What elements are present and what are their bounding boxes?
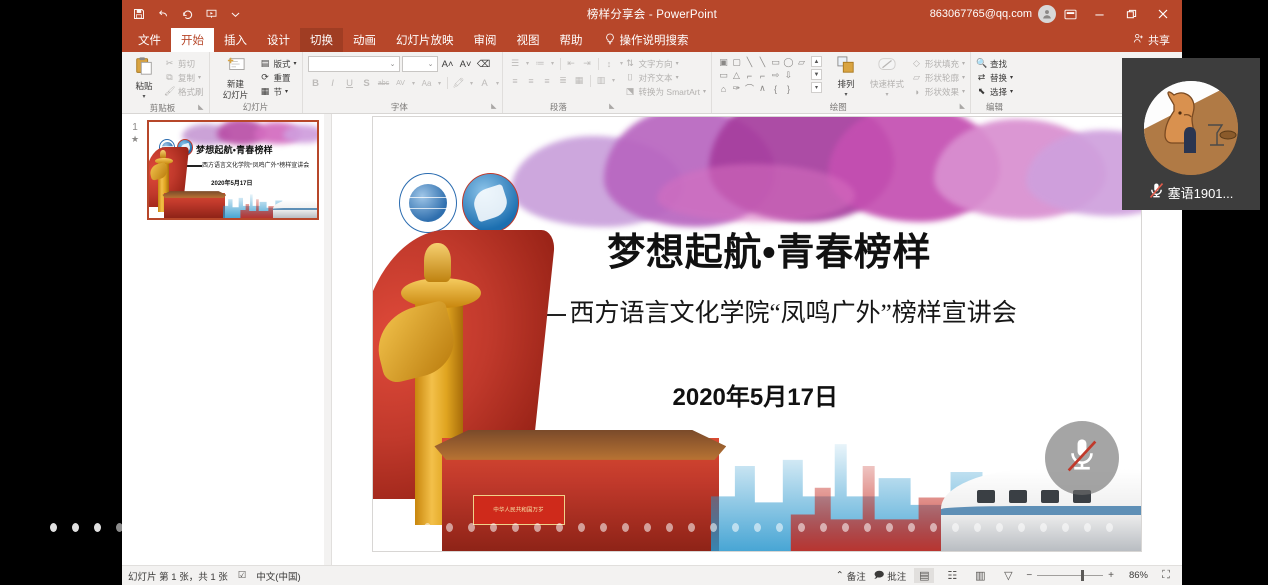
scissors-icon: ✂ [164,58,175,69]
shape-right-brace-icon[interactable]: } [782,82,795,95]
undo-icon[interactable] [152,3,174,25]
redo-icon[interactable] [176,3,198,25]
zoom-out-button[interactable]: − [1026,570,1032,581]
para-divider-1 [560,58,561,70]
share-button[interactable]: 共享 [1133,28,1182,52]
text-direction-label: 文字方向 [639,58,673,70]
font-divider [447,77,448,89]
change-case-label: Aa [422,79,432,88]
layout-dropdown-icon[interactable]: ▾ [294,60,297,67]
char-spacing-label: AV [396,80,405,87]
font-color-label: A [481,78,487,89]
font-color-button[interactable]: A [477,75,493,91]
participant-name: 塞语1901... [1168,183,1234,202]
quick-styles-dropdown-icon[interactable]: ▾ [885,90,888,100]
select-button[interactable]: ⬉ 选择 ▾ [976,85,1013,98]
restore-button[interactable] [1116,1,1146,27]
normal-view-button[interactable]: ▤ [914,568,934,583]
brush-icon: 🖌 [164,86,175,97]
paste-icon [134,56,154,80]
tell-me-search[interactable]: 操作说明搜索 [593,28,689,52]
ribbon-group-editing: 🔍 查找 ⇄ 替换 ▾ ⬉ 选择 ▾ [970,52,1018,113]
watercolor-header [511,116,1142,239]
thumbnail-scrollbar[interactable] [324,114,331,565]
new-slide-button[interactable]: 新建 幻灯片 [215,54,257,100]
shape-arc-icon[interactable]: ⌒ [743,82,756,95]
shapes-gallery[interactable]: ▣ ▢ ╲ ╲ ▭ ◯ ▱ ▭ △ ⌐ ⌐ ⇨ ⇩ ⌂ [717,54,808,95]
shape-effects-label: 形状效果 [925,86,959,98]
font-title-text: 字体 [391,102,408,112]
find-button[interactable]: 🔍 查找 [976,57,1013,70]
new-slide-icon [226,56,246,78]
university-logo [399,173,457,233]
mic-mute-overlay-button[interactable] [1045,421,1119,495]
strikethrough-label: abc [378,80,389,87]
thumbnail-preview[interactable]: 梦想起航•青春榜样 西方语言文化学院“凤鸣广外”榜样宣讲会 2020年5月17日 [147,120,319,220]
font-dialog-launcher[interactable]: ◣ [491,101,496,113]
replace-dropdown-icon[interactable]: ▾ [1010,74,1013,81]
group-title-drawing: ◣ 绘图 [717,101,965,113]
copy-icon: ⧉ [164,72,175,83]
ribbon: 粘贴 ▾ ✂ 剪切 ⧉ 复制 ▾ [122,52,1182,114]
zoom-track[interactable] [1037,575,1103,576]
text-shadow-button[interactable]: S [359,75,375,91]
smartart-icon: ⬔ [625,86,636,97]
slide-logos [399,173,519,233]
zoom-level-label[interactable]: 86% [1122,570,1148,581]
align-text-button[interactable]: ⌷ 对齐文本 ▾ [625,71,706,84]
screen: 榜样分享会 - PowerPoint 863067765@qq.com [0,0,1268,585]
shape-blank-icon[interactable] [795,69,808,82]
select-dropdown-icon[interactable]: ▾ [1010,88,1013,95]
justify-button[interactable]: ≣ [556,73,571,88]
copy-label: 复制 [178,72,195,84]
bold-button[interactable]: B [308,75,324,91]
shape-textbox2-icon[interactable]: ▢ [730,56,743,69]
shape-effects-icon: ◑ [911,87,922,97]
powerpoint-window: 榜样分享会 - PowerPoint 863067765@qq.com [122,0,1182,585]
format-painter-label: 格式刷 [178,86,204,98]
language-label[interactable]: 中文(中国) [256,569,300,583]
change-case-dropdown-icon[interactable]: ▾ [436,75,444,91]
shape-effects-button[interactable]: ◑ 形状效果 ▾ [911,85,965,98]
slide-count-label: 幻灯片 第 1 张，共 1 张 [128,569,228,583]
ribbon-group-drawing: ▣ ▢ ╲ ╲ ▭ ◯ ▱ ▭ △ ⌐ ⌐ ⇨ ⇩ ⌂ [711,52,970,113]
align-text-label: 对齐文本 [639,72,673,84]
quick-styles-button[interactable]: 快速样式 ▾ [866,54,908,100]
new-slide-label-1: 新建 [227,79,244,89]
slide-date[interactable]: 2020年5月17日 [673,377,838,412]
thumb-title: 梦想起航•青春榜样 [196,143,273,156]
customize-qat-icon[interactable] [224,3,246,25]
shapes-scroll-up-icon[interactable]: ▲ [811,56,822,67]
shape-oval-icon[interactable]: ◯ [782,56,795,69]
shape-fill-icon: ◇ [911,58,922,69]
thumb-train [273,200,317,218]
group-title-slides: 幻灯片 [215,101,297,113]
close-button[interactable] [1148,1,1178,27]
align-left-button[interactable]: ≡ [508,73,523,88]
copy-dropdown-icon[interactable]: ▾ [198,74,201,81]
decrease-indent-button[interactable]: ⇤ [564,56,579,71]
paragraph-title-text: 段落 [550,102,567,112]
font-color-dropdown-icon[interactable]: ▾ [494,75,502,91]
train-window [1041,490,1059,503]
shape-right-arrow-icon[interactable]: ⇨ [769,69,782,82]
bold-label: B [312,78,319,89]
drawing-title-text: 绘图 [830,102,847,112]
comments-button[interactable]: 🗩 批注 [874,568,907,584]
italic-label: I [331,78,334,89]
notes-icon: ⌃ [836,570,844,581]
arrange-dropdown-icon[interactable]: ▾ [844,90,847,100]
change-case-button[interactable]: Aa [419,75,435,91]
shape-rounded-rect-icon[interactable]: ▱ [795,56,808,69]
zoom-thumb[interactable] [1081,570,1084,581]
notes-label: 备注 [847,569,866,583]
desktop-left-backdrop [0,0,122,585]
find-label: 查找 [990,58,1007,70]
section-icon: ▦ [260,86,271,97]
reset-button[interactable]: ⟳ 重置 [260,71,297,84]
quick-styles-icon [877,56,897,78]
bullets-button[interactable]: ☰ [508,56,523,71]
zoom-in-button[interactable]: + [1108,570,1114,581]
shape-outline-label: 形状轮廓 [925,72,959,84]
tab-slideshow[interactable]: 幻灯片放映 [386,28,464,52]
numbering-dropdown-icon[interactable]: ▾ [549,56,557,71]
shape-effects-dropdown-icon[interactable]: ▾ [962,88,965,95]
account-email[interactable]: 863067765@qq.com [930,8,1032,20]
shape-pen-icon[interactable]: ✑ [730,82,743,95]
avatar [1144,81,1238,175]
shapes-scroll-down-icon[interactable]: ▼ [811,69,822,80]
text-direction-icon: ⇅ [625,58,636,69]
thumb-date: 2020年5月17日 [211,178,252,187]
paste-button[interactable]: 粘贴 ▾ [127,54,161,102]
shape-outline-icon: ▱ [911,72,922,83]
columns-dropdown-icon[interactable]: ▾ [610,73,618,88]
section-label: 节 [274,86,283,98]
tab-file[interactable]: 文件 [128,28,171,52]
section-dropdown-icon[interactable]: ▾ [285,88,288,95]
group-title-font: ◣ 字体 [308,101,497,113]
section-button[interactable]: ▦ 节 ▾ [260,85,297,98]
thumbnail-item-1[interactable]: 1 ★ [122,120,331,220]
paragraph-dialog-launcher[interactable]: ◣ [609,101,614,113]
convert-smartart-button[interactable]: ⬔ 转换为 SmartArt ▾ [625,85,706,98]
clipboard-title-text: 剪贴板 [150,103,176,113]
group-title-clipboard: ◣ 剪贴板 [127,102,204,114]
shape-left-brace-icon[interactable]: { [769,82,782,95]
shape-square-icon[interactable]: ▭ [717,69,730,82]
thumb-subtitle: 西方语言文化学院“凤鸣广外”榜样宣讲会 [186,160,309,169]
search-icon: 🔍 [976,58,987,69]
shape-outline-dropdown-icon[interactable]: ▾ [962,74,965,81]
tab-animations[interactable]: 动画 [343,28,386,52]
thumb-pillar-top [160,150,166,159]
comments-label: 批注 [887,569,906,583]
shapes-more-icon[interactable]: ▾ [811,82,822,93]
new-slide-label-2: 幻灯片 [223,90,249,100]
arrange-label: 排列 [837,79,854,89]
shadow-label: S [363,78,369,89]
columns-button[interactable]: ▥ [594,73,609,88]
star-icon: ★ [131,134,139,145]
share-person-icon [1133,33,1144,47]
align-right-button[interactable]: ≡ [540,73,555,88]
format-painter-button[interactable]: 🖌 格式刷 [164,85,204,98]
train-stripe [941,506,1141,514]
tiananmen-roof [434,430,726,460]
clipboard-dialog-launcher[interactable]: ◣ [198,102,203,114]
align-text-dropdown-icon[interactable]: ▾ [676,74,679,81]
train-window [1009,490,1027,503]
bullets-dropdown-icon[interactable]: ▾ [524,56,532,71]
tab-transitions[interactable]: 切换 [300,28,343,52]
layout-icon: ▤ [260,58,271,69]
font-size-chevron-down-icon[interactable]: ⌄ [428,60,434,68]
shape-rectangle-icon[interactable]: ▭ [769,56,782,69]
shape-flow-icon[interactable]: ⌂ [717,82,730,95]
mic-muted-icon [1065,436,1099,481]
thumb-gate-roof [162,191,226,198]
align-center-button[interactable]: ≡ [524,73,539,88]
arrange-button[interactable]: 排列 ▾ [829,54,863,100]
slide-subtitle[interactable]: 西方语言文化学院“凤鸣广外”榜样宣讲会 [504,293,1017,329]
tab-design[interactable]: 设计 [257,28,300,52]
gate-banner: 中华人民共和国万岁 [473,495,565,525]
avatar[interactable] [1038,5,1056,23]
thumbnail-number: 1 [132,122,138,134]
copy-button[interactable]: ⧉ 复制 ▾ [164,71,204,84]
train-window [977,490,995,503]
huabiao-top [424,243,452,282]
title-bar: 榜样分享会 - PowerPoint 863067765@qq.com [122,0,1182,28]
shape-triangle-icon[interactable]: △ [730,69,743,82]
minimize-button[interactable] [1084,1,1114,27]
fit-to-window-button[interactable]: ⛶ [1156,568,1176,583]
ribbon-group-paragraph: ☰ ▾ ≔ ▾ ⇤ ⇥ ↕ ▾ ≡ ≡ ≡ [502,52,620,113]
group-title-editing: 编辑 [976,101,1013,113]
faculty-logo [462,173,520,233]
tab-help[interactable]: 帮助 [550,28,593,52]
select-label: 选择 [990,86,1007,98]
align-text-icon: ⌷ [625,72,636,83]
ribbon-tabs: 文件 开始 插入 设计 切换 动画 幻灯片放映 审阅 视图 帮助 操作说明搜索 … [122,28,1182,52]
arrange-icon [837,56,855,78]
shape-fill-label: 形状填充 [925,58,959,70]
highlight-dropdown-icon[interactable]: ▾ [468,75,476,91]
shape-elbow-icon[interactable]: ⌐ [743,69,756,82]
cursor-icon: ⬉ [976,86,987,97]
text-highlight-button[interactable]: 🖍 [451,75,467,91]
para-divider-2 [598,58,599,70]
shape-connector-icon[interactable]: ⌐ [756,69,769,82]
italic-button[interactable]: I [325,75,341,91]
slideshow-view-button[interactable]: ▽ [998,568,1018,583]
tab-insert[interactable]: 插入 [214,28,257,52]
replace-icon: ⇄ [976,72,987,83]
reset-icon: ⟳ [260,72,271,83]
shape-outline-button[interactable]: ▱ 形状轮廓 ▾ [911,71,965,84]
shape-fill-button[interactable]: ◇ 形状填充 ▾ [911,57,965,70]
paste-dropdown-icon[interactable]: ▾ [142,92,145,102]
character-spacing-dropdown-icon[interactable]: ▾ [410,75,418,91]
zoom-slider[interactable]: − + [1026,570,1114,581]
ribbon-display-options-icon[interactable] [1058,1,1082,27]
underline-label: U [346,78,353,89]
slide-subtitle-text: 西方语言文化学院“凤鸣广外”榜样宣讲会 [570,300,1017,327]
shape-down-arrow-icon[interactable]: ⇩ [782,69,795,82]
video-participant-tile[interactable]: 塞语1901... [1122,58,1260,210]
shape-textbox-icon[interactable]: ▣ [717,56,730,69]
ribbon-group-clipboard: 粘贴 ▾ ✂ 剪切 ⧉ 复制 ▾ [122,52,209,113]
para-divider-3 [590,75,591,87]
ribbon-group-slides: 新建 幻灯片 ▤ 版式 ▾ ⟳ 重置 [209,52,302,113]
distribute-button[interactable]: ▦ [572,73,587,88]
shape-curve-icon[interactable]: ∧ [756,82,769,95]
notes-button[interactable]: ⌃ 备注 [836,569,866,583]
shapes-gallery-scroll[interactable]: ▲ ▼ ▾ [811,54,822,93]
underline-button[interactable]: U [342,75,358,91]
highlighter-icon: 🖍 [453,78,465,89]
paste-label: 粘贴 [135,81,152,91]
layout-button[interactable]: ▤ 版式 ▾ [260,57,297,70]
accessibility-icon[interactable]: ☑ [238,570,247,581]
tab-home[interactable]: 开始 [171,28,214,52]
quick-styles-label: 快速样式 [870,79,904,89]
comment-icon: 🗩 [874,568,885,584]
group-title-paragraph-extra [625,101,706,113]
increase-font-size-button[interactable]: A˄ [440,56,456,72]
cut-button[interactable]: ✂ 剪切 [164,57,204,70]
group-title-paragraph: ◣ 段落 [508,101,615,113]
mic-muted-icon [1149,182,1164,202]
gate-banner-text: 中华人民共和国万岁 [494,506,544,514]
character-spacing-button[interactable]: AV [393,75,409,91]
smartart-dropdown-icon[interactable]: ▾ [703,88,706,95]
clear-formatting-button[interactable]: ⌫ [476,56,492,72]
slide-canvas[interactable]: 梦想起航•青春榜样 西方语言文化学院“凤鸣广外”榜样宣讲会 2020年5月17日… [372,116,1142,552]
start-slideshow-icon[interactable] [200,3,222,25]
text-direction-button[interactable]: ⇅ 文字方向 ▾ [625,57,706,70]
quick-access-toolbar [122,3,246,25]
strikethrough-button[interactable]: abc [376,75,392,91]
thumbnail-meta: 1 ★ [128,120,142,220]
shape-arrow-icon[interactable]: ╲ [756,56,769,69]
tell-me-placeholder: 操作说明搜索 [620,32,689,48]
title-bar-right: 863067765@qq.com [930,1,1182,27]
ribbon-group-paragraph-extra: ⇅ 文字方向 ▾ ⌷ 对齐文本 ▾ ⬔ 转换为 SmartArt ▾ [620,52,711,113]
share-label: 共享 [1148,32,1170,48]
replace-button[interactable]: ⇄ 替换 ▾ [976,71,1013,84]
font-size-input[interactable]: ⌄ [402,56,438,72]
status-bar: 幻灯片 第 1 张，共 1 张 ☑ 中文(中国) ⌃ 备注 🗩 批注 ▤ ☷ ▥… [122,565,1182,585]
drawing-dialog-launcher[interactable]: ◣ [960,101,965,113]
font-name-input[interactable]: ⌄ [308,56,400,72]
lightbulb-icon [605,33,615,48]
editing-title-text: 编辑 [986,102,1003,112]
reset-label: 重置 [274,72,291,84]
cut-label: 剪切 [178,58,195,70]
shape-line-icon[interactable]: ╲ [743,56,756,69]
replace-label: 替换 [990,72,1007,84]
text-direction-dropdown-icon[interactable]: ▾ [676,60,679,67]
tab-review[interactable]: 审阅 [464,28,507,52]
numbering-button[interactable]: ≔ [533,56,548,71]
reading-view-button[interactable]: ▥ [970,568,990,583]
participant-name-row: 塞语1901... [1122,182,1260,202]
status-bar-right: ⌃ 备注 🗩 批注 ▤ ☷ ▥ ▽ − + 86% ⛶ [836,568,1176,584]
slide-thumbnail-pane: 1 ★ [122,114,332,565]
line-spacing-button[interactable]: ↕ [602,56,617,71]
increase-indent-button[interactable]: ⇥ [580,56,595,71]
decrease-font-size-button[interactable]: A˅ [458,56,474,72]
tab-view[interactable]: 视图 [507,28,550,52]
shape-blank2-icon[interactable] [795,82,808,95]
shape-fill-dropdown-icon[interactable]: ▾ [962,60,965,67]
slide-pane: 梦想起航•青春榜样 西方语言文化学院“凤鸣广外”榜样宣讲会 2020年5月17日… [332,114,1182,565]
save-icon[interactable] [128,3,150,25]
slide-title[interactable]: 梦想起航•青春榜样 [607,221,931,276]
ribbon-group-font: ⌄ ⌄ A˄ A˅ ⌫ B I [302,52,502,113]
slides-title-text: 幻灯片 [243,102,269,112]
clear-format-icon: ⌫ [477,59,490,70]
layout-label: 版式 [274,58,291,70]
font-name-chevron-down-icon[interactable]: ⌄ [390,60,396,68]
slide-sorter-view-button[interactable]: ☷ [942,568,962,583]
editor-body: 1 ★ [122,114,1182,565]
convert-smartart-label: 转换为 SmartArt [639,86,700,98]
